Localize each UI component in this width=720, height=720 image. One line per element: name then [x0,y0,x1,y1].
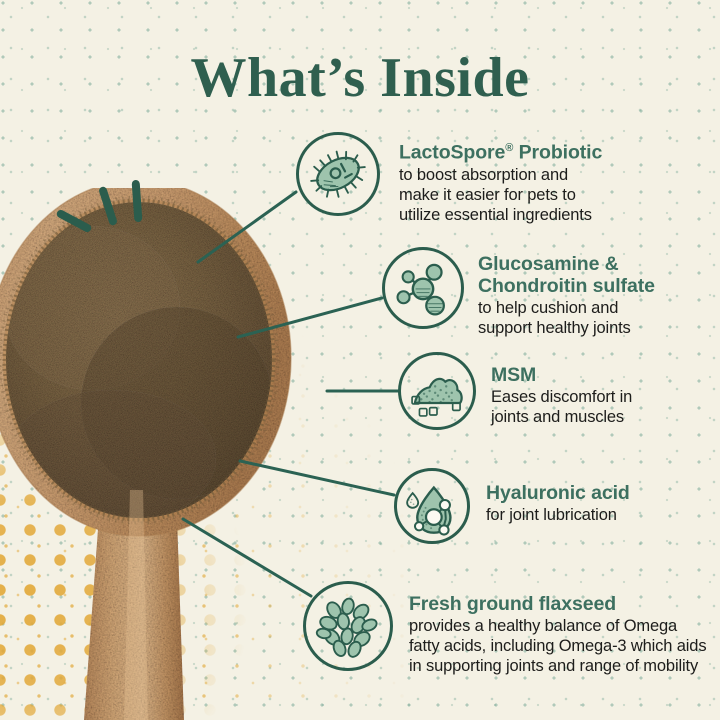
flaxseed-cluster-icon [303,581,393,671]
water-droplet-molecule-icon [394,468,470,544]
wooden-spoon-image [0,188,322,720]
callout-title: Hyaluronic acid [486,482,630,504]
callout-text: Hyaluronic acid for joint lubrication [486,482,630,525]
callout-hyaluronic-acid[interactable]: Hyaluronic acid for joint lubrication [394,468,630,544]
callout-lactospore[interactable]: LactoSpore® Probiotic to boost absorptio… [296,132,602,225]
callout-text: LactoSpore® Probiotic to boost absorptio… [399,137,602,225]
callout-body: Eases discomfort in joints and muscles [491,387,632,427]
callout-body: to boost absorption and make it easier f… [399,165,602,225]
callout-body: provides a healthy balance of Omega fatt… [409,616,706,676]
molecule-icon [382,247,464,329]
page-title: What’s Inside [0,46,720,110]
callout-title: LactoSpore® Probiotic [399,137,602,164]
callout-title: Glucosamine & Chondroitin sulfate [478,253,655,297]
bacteria-icon [296,132,380,216]
callout-title: Fresh ground flaxseed [409,593,706,615]
callout-text: Glucosamine & Chondroitin sulfate to hel… [478,253,655,338]
powder-pile-icon [398,352,476,430]
whats-inside-infographic: LactoSpore® Probiotic to boost absorptio… [0,0,720,720]
callout-body: for joint lubrication [486,505,630,525]
callout-title: MSM [491,364,632,386]
callout-text: Fresh ground flaxseed provides a healthy… [409,593,706,676]
callout-msm[interactable]: MSM Eases discomfort in joints and muscl… [398,352,632,430]
callout-glucosamine-chondroitin[interactable]: Glucosamine & Chondroitin sulfate to hel… [382,247,655,338]
callout-fresh-ground-flaxseed[interactable]: Fresh ground flaxseed provides a healthy… [303,581,706,676]
sparkle-mark-3 [132,180,143,222]
callout-text: MSM Eases discomfort in joints and muscl… [491,364,632,427]
callout-body: to help cushion and support healthy join… [478,298,655,338]
